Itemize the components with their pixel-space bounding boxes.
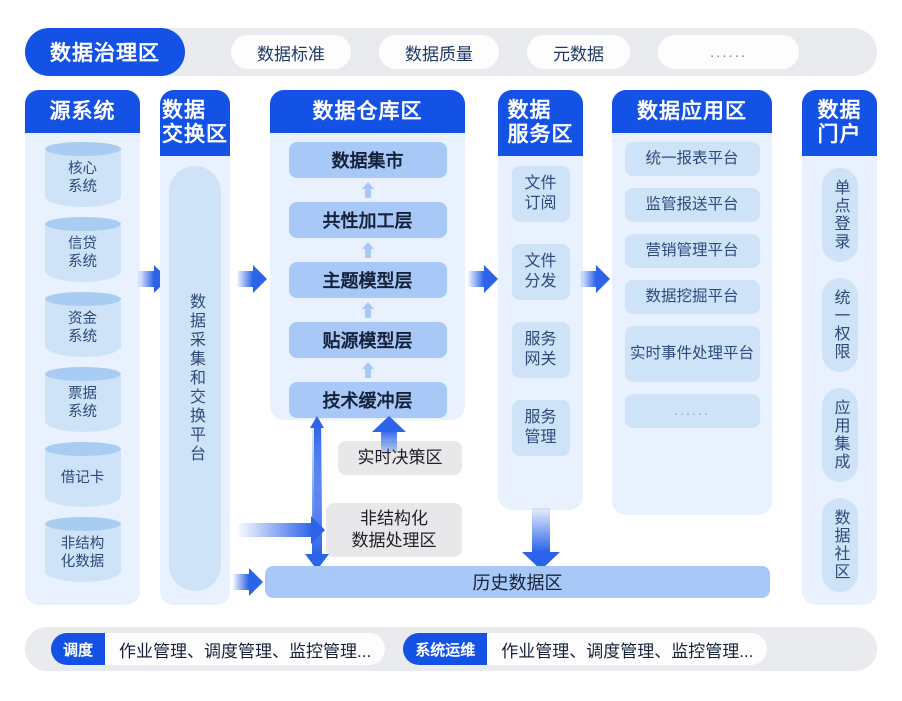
source-item-core[interactable]: 核心系统 [45,142,121,207]
service-item-service-management[interactable]: 服务管理 [512,400,570,456]
service-item-file-distribution[interactable]: 文件分发 [512,244,570,300]
application-zone-title: 数据应用区 [612,90,772,133]
architecture-diagram: 数据治理区 数据标准 数据质量 元数据 ...... 源系统 核心系统 信贷系统… [0,0,902,701]
warehouse-layer-subject-model[interactable]: 主题模型层 [289,262,447,298]
application-item-marketing-management[interactable]: 营销管理平台 [625,234,760,268]
source-item-treasury[interactable]: 资金系统 [45,292,121,357]
arrow-exchange-to-warehouse [237,265,267,293]
portal-item-single-sign-on[interactable]: 单点登录 [822,168,858,262]
service-item-service-gateway[interactable]: 服务网关 [512,322,570,378]
source-item-label: 非结构化数据 [61,528,105,571]
governance-tab-data-standard[interactable]: 数据标准 [231,35,351,69]
arrow-exchange-to-unstructured [237,516,327,544]
application-item-more[interactable]: ...... [625,394,760,428]
application-item-unified-reporting[interactable]: 统一报表平台 [625,142,760,176]
portal-item-label: 应用集成 [828,399,852,471]
governance-bar: 数据治理区 数据标准 数据质量 元数据 ...... [25,28,877,76]
warehouse-zone-title: 数据仓库区 [270,90,465,133]
arrow-exchange-to-historical [233,568,263,596]
operations-group-text: 作业管理、调度管理、监控管理... [487,637,767,662]
arrow-up-icon [362,242,374,258]
arrow-warehouse-to-service [468,265,498,293]
service-item-list: 文件订阅 文件分发 服务网关 服务管理 [498,166,583,456]
application-item-regulatory-reporting[interactable]: 监管报送平台 [625,188,760,222]
warehouse-layer-technical-buffer[interactable]: 技术缓冲层 [289,382,447,418]
source-zone: 源系统 核心系统 信贷系统 资金系统 票据系统 借记卡 非结构化数据 [25,90,140,605]
application-item-realtime-event-processing[interactable]: 实时事件处理平台 [625,326,760,382]
operations-group-text: 作业管理、调度管理、监控管理... [105,637,385,662]
warehouse-layer-list: 数据集市 共性加工层 主题模型层 贴源模型层 技术缓冲层 [270,142,465,418]
governance-tab-data-quality[interactable]: 数据质量 [379,35,499,69]
source-zone-title: 源系统 [25,90,140,133]
portal-item-application-integration[interactable]: 应用集成 [822,388,858,482]
source-item-label: 核心系统 [68,153,97,196]
portal-zone: 数据门户 单点登录 统一权限 应用集成 数据社区 [802,90,877,605]
source-item-label: 票据系统 [68,378,97,421]
portal-item-label: 数据社区 [828,509,852,581]
arrow-service-to-historical [522,508,560,570]
portal-item-unified-permissions[interactable]: 统一权限 [822,278,858,372]
governance-tab-list: 数据标准 数据质量 元数据 ...... [231,35,799,69]
governance-tab-more[interactable]: ...... [658,35,799,69]
exchange-zone: 数据交换区 数据采集和交换平台 [160,90,230,605]
portal-item-data-community[interactable]: 数据社区 [822,498,858,592]
application-item-list: 统一报表平台 监管报送平台 营销管理平台 数据挖掘平台 实时事件处理平台 ...… [612,142,772,428]
portal-item-list: 单点登录 统一权限 应用集成 数据社区 [802,168,877,592]
source-item-list: 核心系统 信贷系统 资金系统 票据系统 借记卡 非结构化数据 [25,142,140,582]
portal-item-label: 单点登录 [828,179,852,251]
application-zone: 数据应用区 统一报表平台 监管报送平台 营销管理平台 数据挖掘平台 实时事件处理… [612,90,772,515]
warehouse-layer-data-mart[interactable]: 数据集市 [289,142,447,178]
arrow-service-to-application [580,265,610,293]
operations-group-scheduling[interactable]: 调度 作业管理、调度管理、监控管理... [51,633,385,665]
source-item-bills[interactable]: 票据系统 [45,367,121,432]
source-item-label: 信贷系统 [68,228,97,271]
arrow-up-icon [362,182,374,198]
source-item-label: 借记卡 [61,462,105,487]
exchange-platform-label: 数据采集和交换平台 [183,293,207,464]
exchange-zone-title: 数据交换区 [160,90,230,156]
service-zone: 数据服务区 文件订阅 文件分发 服务网关 服务管理 [498,90,583,510]
source-item-label: 资金系统 [68,303,97,346]
governance-tab-metadata[interactable]: 元数据 [527,35,630,69]
governance-title: 数据治理区 [25,28,185,76]
arrow-up-icon [362,362,374,378]
operations-group-system-ops[interactable]: 系统运维 作业管理、调度管理、监控管理... [403,633,767,665]
historical-zone[interactable]: 历史数据区 [265,566,770,598]
exchange-platform-pill[interactable]: 数据采集和交换平台 [169,166,221,591]
source-item-credit[interactable]: 信贷系统 [45,217,121,282]
warehouse-layer-source-aligned-model[interactable]: 贴源模型层 [289,322,447,358]
application-item-data-mining[interactable]: 数据挖掘平台 [625,280,760,314]
arrow-up-icon [362,302,374,318]
service-item-file-subscription[interactable]: 文件订阅 [512,166,570,222]
unstructured-processing-zone[interactable]: 非结构化数据处理区 [326,503,462,557]
operations-group-tag: 调度 [51,633,105,665]
warehouse-layer-common-processing[interactable]: 共性加工层 [289,202,447,238]
operations-bar: 调度 作业管理、调度管理、监控管理... 系统运维 作业管理、调度管理、监控管理… [25,627,877,671]
arrow-realtime-to-warehouse [372,416,406,452]
portal-zone-title: 数据门户 [802,90,877,156]
portal-item-label: 统一权限 [828,289,852,361]
source-item-unstructured[interactable]: 非结构化数据 [45,517,121,582]
warehouse-zone: 数据仓库区 数据集市 共性加工层 主题模型层 贴源模型层 技术缓冲层 [270,90,465,420]
operations-group-tag: 系统运维 [403,633,487,665]
service-zone-title: 数据服务区 [498,90,583,156]
source-item-debit-card[interactable]: 借记卡 [45,442,121,507]
